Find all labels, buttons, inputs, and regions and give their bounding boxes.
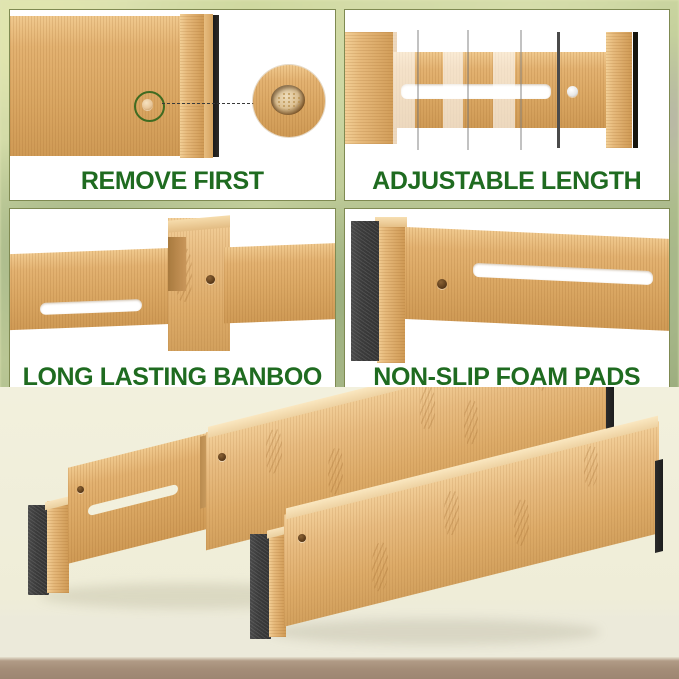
foam-end-cap	[28, 505, 49, 595]
ghost-line-1	[417, 30, 419, 150]
joint-notch	[168, 237, 186, 291]
main-screw-hole	[298, 534, 306, 542]
feature-panel-grid: REMOVE FIRST ADJUSTABLE LENGTH	[0, 0, 679, 390]
adjustment-slot	[401, 84, 551, 99]
dark-foam-edge	[633, 32, 638, 148]
magnified-plug-texture	[277, 92, 301, 110]
photo-long-lasting-banboo	[10, 209, 335, 397]
photo-adjustable-length	[345, 10, 670, 200]
far-end-foam-cap	[655, 459, 663, 553]
position-marker-line	[557, 32, 560, 148]
bamboo-node	[372, 541, 388, 593]
photo-non-slip-foam-pads	[345, 209, 670, 397]
bamboo-node	[420, 387, 435, 431]
end-post	[47, 501, 69, 593]
wood-floor-strip	[0, 657, 679, 679]
left-end-cap	[345, 32, 397, 144]
ghost-line-3	[520, 30, 522, 150]
right-end-post	[606, 32, 632, 148]
dark-end-strip	[213, 15, 219, 157]
ghost-position-1	[393, 30, 415, 150]
bamboo-edge-secondary	[204, 14, 213, 158]
panel-remove-first[interactable]: REMOVE FIRST	[9, 9, 336, 201]
photo-remove-first	[10, 10, 335, 200]
callout-dashed-line	[162, 103, 260, 104]
bamboo-node	[444, 489, 459, 537]
rail-screw-hole	[437, 279, 447, 289]
bamboo-node	[464, 399, 478, 446]
bamboo-node	[536, 387, 550, 392]
foam-end-cap	[250, 534, 271, 639]
magnified-detail-circle	[253, 65, 325, 137]
bamboo-node	[514, 498, 529, 548]
bamboo-post	[377, 217, 405, 363]
post-screw-hole	[206, 275, 215, 284]
non-slip-foam-pad	[351, 221, 379, 361]
post-top-face	[375, 217, 407, 227]
extension-screw-hole	[77, 486, 84, 493]
bamboo-node	[584, 444, 598, 487]
infographic-root: REMOVE FIRST ADJUSTABLE LENGTH	[0, 0, 679, 679]
divider-single[interactable]	[250, 472, 679, 672]
ghost-position-2	[443, 30, 463, 150]
highlight-circle-icon	[134, 91, 165, 122]
hero-product-shot	[0, 387, 679, 679]
bamboo-board	[10, 16, 182, 156]
bamboo-rail-left	[10, 248, 182, 331]
rail-screw-hole	[567, 86, 578, 97]
main-screw-hole	[218, 453, 226, 461]
panel-long-lasting-banboo[interactable]: LONG LASTING BANBOO	[9, 208, 336, 398]
bamboo-rail-right	[224, 243, 335, 324]
panel-adjustable-length[interactable]: ADJUSTABLE LENGTH	[344, 9, 671, 201]
bamboo-node	[266, 427, 282, 475]
ghost-line-2	[467, 30, 469, 150]
bamboo-edge	[180, 14, 204, 158]
panel-non-slip-foam-pads[interactable]: NON-SLIP FOAM PADS	[344, 208, 671, 398]
ghost-position-3	[493, 30, 515, 150]
